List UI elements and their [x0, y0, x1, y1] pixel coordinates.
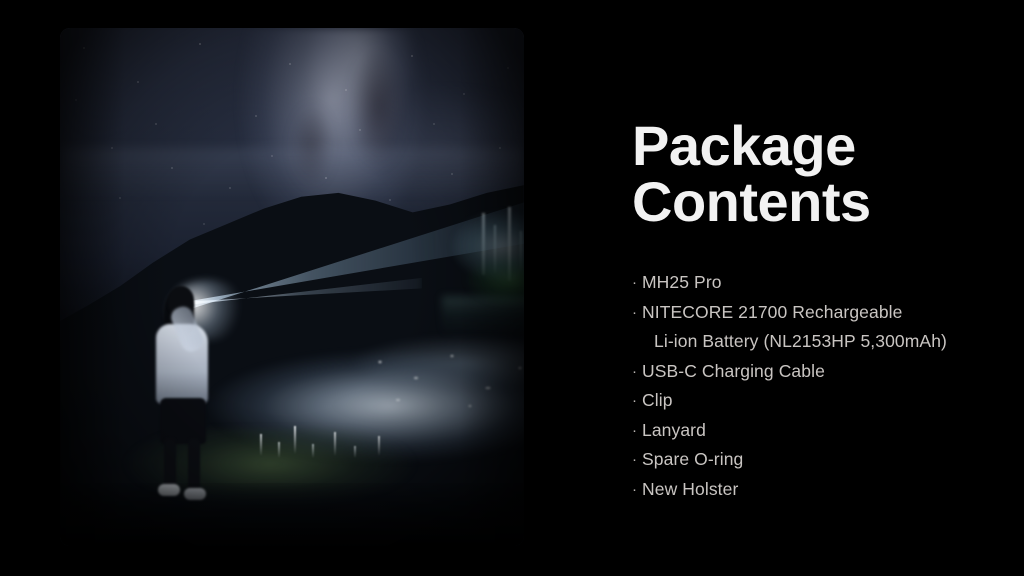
list-item-label-main: NITECORE 21700 Rechargeable — [642, 302, 902, 322]
page-title-line-1: Package — [632, 118, 1002, 174]
list-item-label: NITECORE 21700 Rechargeable Li-ion Batte… — [642, 298, 1002, 357]
list-item-label: Spare O-ring — [642, 445, 1002, 475]
bullet-dot-icon: · — [632, 475, 642, 505]
list-item-label: Lanyard — [642, 416, 1002, 446]
list-item: · New Holster — [632, 475, 1002, 505]
bullet-dot-icon: · — [632, 268, 642, 298]
list-item: · NITECORE 21700 Rechargeable Li-ion Bat… — [632, 298, 1002, 357]
text-column: Package Contents · MH25 Pro · NITECORE 2… — [632, 118, 1002, 504]
list-item: · Lanyard — [632, 416, 1002, 446]
page-title-line-2: Contents — [632, 174, 1002, 230]
page-title: Package Contents — [632, 118, 1002, 230]
list-item: · USB-C Charging Cable — [632, 357, 1002, 387]
slide-root: Package Contents · MH25 Pro · NITECORE 2… — [0, 0, 1024, 576]
bullet-dot-icon: · — [632, 416, 642, 446]
package-contents-list: · MH25 Pro · NITECORE 21700 Rechargeable… — [632, 268, 1002, 504]
list-item-label-continuation: Li-ion Battery (NL2153HP 5,300mAh) — [642, 327, 1002, 357]
list-item: · Clip — [632, 386, 1002, 416]
product-scene-image — [60, 28, 524, 546]
bullet-dot-icon: · — [632, 445, 642, 475]
list-item: · Spare O-ring — [632, 445, 1002, 475]
list-item-label: USB-C Charging Cable — [642, 357, 1002, 387]
list-item-label: New Holster — [642, 475, 1002, 505]
list-item: · MH25 Pro — [632, 268, 1002, 298]
bullet-dot-icon: · — [632, 386, 642, 416]
bullet-dot-icon: · — [632, 298, 642, 328]
list-item-label: MH25 Pro — [642, 268, 1002, 298]
photo-vignette — [60, 28, 524, 546]
bullet-dot-icon: · — [632, 357, 642, 387]
list-item-label: Clip — [642, 386, 1002, 416]
